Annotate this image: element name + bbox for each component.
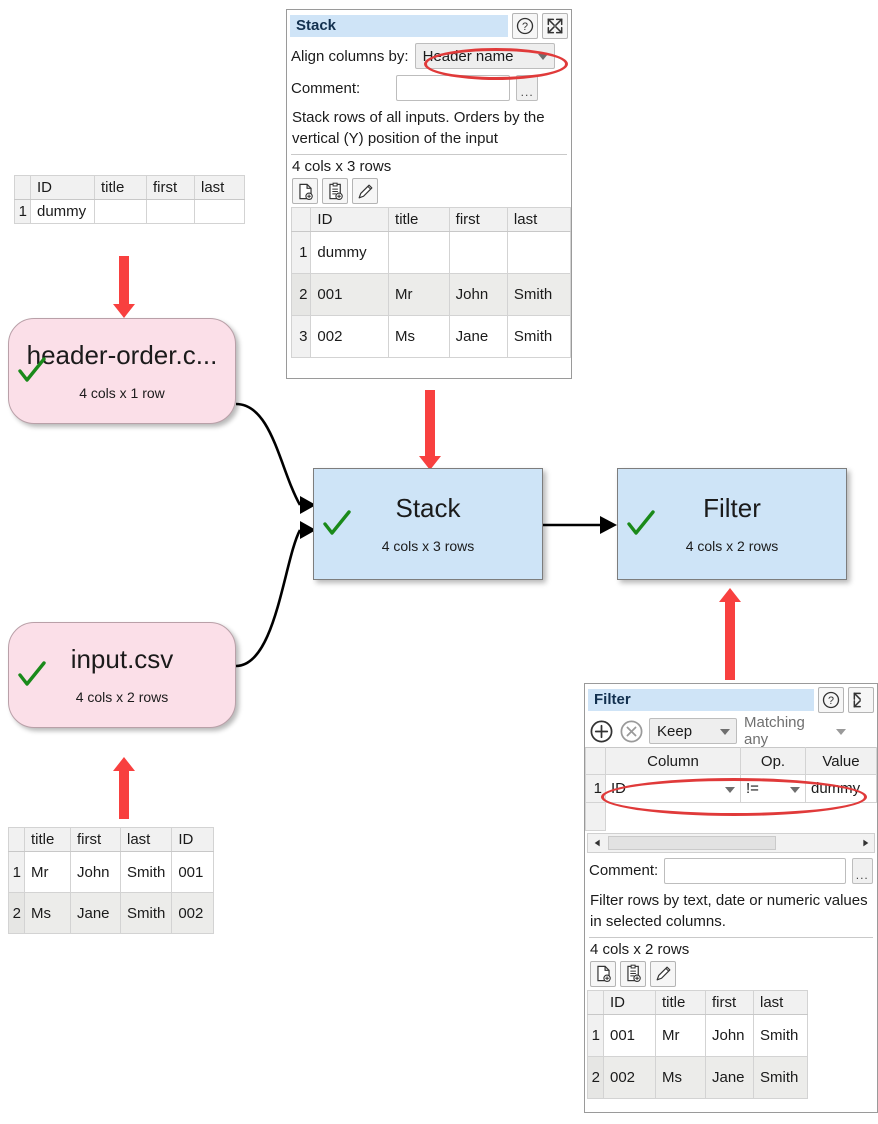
table-cell[interactable]: 001: [172, 852, 214, 893]
grid-corner: [588, 990, 604, 1014]
table-cell[interactable]: [389, 232, 450, 274]
table-row[interactable]: 1 Mr John Smith 001: [9, 852, 214, 893]
scroll-track[interactable]: [607, 834, 855, 852]
node-title: Filter: [703, 493, 761, 523]
row-number: 1: [9, 852, 25, 893]
comment-more-button[interactable]: ...: [852, 858, 873, 884]
column-header[interactable]: first: [449, 208, 507, 232]
arrow-stack-panel-to-node: [419, 390, 441, 470]
chevron-down-icon: [790, 787, 800, 793]
arrow-inputcsv-preview-to-node: [113, 757, 135, 819]
row-number: 1: [15, 200, 31, 224]
status-ok-tick-icon: [322, 509, 352, 539]
column-header[interactable]: Column: [606, 748, 741, 775]
scroll-left-arrow-icon[interactable]: [588, 834, 607, 852]
table-cell[interactable]: Jane: [449, 316, 507, 358]
table-row[interactable]: 1 001 Mr John Smith: [588, 1014, 808, 1056]
criteria-column-value: ID: [611, 780, 626, 797]
table-cell[interactable]: 002: [311, 316, 389, 358]
table-cell: [741, 803, 806, 831]
data-grid[interactable]: ID title first last 1 dummy: [14, 175, 245, 224]
collapse-arrows-icon[interactable]: [848, 687, 874, 713]
comment-row: Comment: ...: [585, 853, 877, 886]
table-cell[interactable]: Mr: [656, 1014, 706, 1056]
grid-corner: [586, 748, 606, 775]
expand-arrows-icon[interactable]: [542, 13, 568, 39]
align-columns-value: Header name: [423, 48, 514, 65]
column-header[interactable]: ID: [31, 176, 95, 200]
filter-criteria-toolbar: Keep Matching any: [585, 715, 877, 747]
table-cell[interactable]: [449, 232, 507, 274]
criteria-op-cell[interactable]: !=: [741, 775, 806, 803]
table-header-row: ID title first last: [15, 176, 245, 200]
header-order-preview-table[interactable]: ID title first last 1 dummy: [14, 175, 245, 224]
table-header-row: ID title first last: [588, 990, 808, 1014]
table-header-row: Column Op. Value: [586, 748, 877, 775]
filter-description: Filter rows by text, date or numeric val…: [585, 886, 877, 934]
column-header[interactable]: last: [195, 176, 245, 200]
question-mark-icon[interactable]: ?: [512, 13, 538, 39]
column-header[interactable]: title: [25, 828, 71, 852]
panel-title: Stack: [290, 15, 508, 37]
data-grid[interactable]: title first last ID 1 Mr John Smith 001 …: [8, 827, 214, 934]
column-header[interactable]: Value: [806, 748, 877, 775]
table-row[interactable]: 2 Ms Jane Smith 002: [9, 893, 214, 934]
comment-input[interactable]: [396, 75, 510, 101]
table-cell: [606, 803, 741, 831]
table-cell[interactable]: Jane: [706, 1056, 754, 1098]
stack-description: Stack rows of all inputs. Orders by the …: [287, 103, 571, 151]
filter-result-table-wrap[interactable]: ID title first last 1 001 Mr John Smith …: [585, 990, 877, 1099]
column-header[interactable]: ID: [604, 990, 656, 1014]
table-cell[interactable]: John: [449, 274, 507, 316]
table-row[interactable]: 2 001 Mr John Smith: [292, 274, 571, 316]
edit-pencil-icon[interactable]: [650, 961, 676, 987]
comment-more-button[interactable]: ...: [516, 75, 538, 101]
panel-header: Filter ?: [585, 684, 877, 715]
row-number: [586, 803, 606, 831]
table-cell[interactable]: Ms: [656, 1056, 706, 1098]
column-header[interactable]: ID: [172, 828, 214, 852]
stack-properties-panel[interactable]: Stack ? Align columns by: Header name: [286, 9, 572, 379]
plus-circle-icon[interactable]: [589, 719, 614, 744]
table-cell[interactable]: [95, 200, 147, 224]
table-header-row: title first last ID: [9, 828, 214, 852]
panel-title: Filter: [588, 689, 814, 711]
filter-mode-value: Keep: [657, 723, 692, 740]
chevron-down-icon: [538, 54, 548, 60]
table-cell[interactable]: John: [706, 1014, 754, 1056]
status-ok-tick-icon: [17, 356, 47, 386]
column-header[interactable]: title: [656, 990, 706, 1014]
criteria-column-cell[interactable]: ID: [606, 775, 741, 803]
node-header-order[interactable]: header-order.c... 4 cols x 1 row: [8, 318, 236, 424]
table-cell[interactable]: Jane: [71, 893, 121, 934]
column-header[interactable]: last: [121, 828, 172, 852]
table-cell[interactable]: Smith: [754, 1014, 808, 1056]
table-cell[interactable]: 002: [172, 893, 214, 934]
table-cell[interactable]: 001: [604, 1014, 656, 1056]
divider: [589, 937, 873, 938]
table-cell[interactable]: 002: [604, 1056, 656, 1098]
table-cell[interactable]: [147, 200, 195, 224]
node-title: input.csv: [71, 644, 174, 674]
row-number: 2: [292, 274, 311, 316]
copy-to-clipboard-icon[interactable]: [620, 961, 646, 987]
criteria-column-dropdown[interactable]: ID: [606, 775, 740, 802]
grid-corner: [292, 208, 311, 232]
filter-match-dropdown[interactable]: Matching any: [742, 718, 852, 744]
criteria-value-input[interactable]: dummy: [806, 775, 876, 802]
table-row[interactable]: 3 002 Ms Jane Smith: [292, 316, 571, 358]
node-dimensions: 4 cols x 3 rows: [382, 537, 475, 555]
svg-text:?: ?: [522, 21, 528, 33]
copy-to-clipboard-icon[interactable]: [322, 178, 348, 204]
comment-row: Comment: ...: [287, 71, 571, 103]
node-input-csv[interactable]: input.csv 4 cols x 2 rows: [8, 622, 236, 728]
table-cell[interactable]: 001: [311, 274, 389, 316]
criteria-op-value: !=: [746, 780, 759, 797]
link-headerorder-to-stack: [236, 404, 300, 505]
chevron-down-icon: [725, 787, 735, 793]
comment-label: Comment:: [589, 862, 658, 879]
row-number: 1: [586, 775, 606, 803]
column-header[interactable]: Op.: [741, 748, 806, 775]
column-header[interactable]: title: [95, 176, 147, 200]
grid-corner: [15, 176, 31, 200]
divider: [291, 154, 567, 155]
comment-input[interactable]: [664, 858, 845, 884]
data-grid[interactable]: ID title first last 1 001 Mr John Smith …: [587, 990, 808, 1099]
table-row[interactable]: 2 002 Ms Jane Smith: [588, 1056, 808, 1098]
filter-mode-dropdown[interactable]: Keep: [649, 718, 737, 744]
column-header[interactable]: first: [706, 990, 754, 1014]
table-row-empty: [586, 803, 877, 831]
new-file-icon[interactable]: [590, 961, 616, 987]
align-columns-dropdown[interactable]: Header name: [415, 43, 555, 69]
stack-toolbar: [287, 177, 571, 207]
column-header[interactable]: first: [71, 828, 121, 852]
row-number: 2: [588, 1056, 604, 1098]
table-header-row: ID title first last: [292, 208, 571, 232]
table-cell[interactable]: Mr: [25, 852, 71, 893]
table-cell[interactable]: dummy: [31, 200, 95, 224]
data-grid[interactable]: ID title first last 1 dummy 2 001 Mr: [291, 207, 571, 358]
table-row[interactable]: 1 ID != dummy: [586, 775, 877, 803]
table-cell: [806, 803, 877, 831]
filter-match-value: Matching any: [744, 714, 830, 748]
filter-output-dimensions: 4 cols x 2 rows: [585, 940, 877, 960]
table-cell[interactable]: Mr: [389, 274, 450, 316]
table-row[interactable]: 1 dummy: [292, 232, 571, 274]
status-ok-tick-icon: [17, 660, 47, 690]
table-cell[interactable]: Smith: [121, 852, 172, 893]
table-row[interactable]: 1 dummy: [15, 200, 245, 224]
question-mark-icon[interactable]: ?: [818, 687, 844, 713]
row-number: 1: [292, 232, 311, 274]
table-cell[interactable]: [507, 232, 570, 274]
scroll-right-arrow-icon[interactable]: [855, 834, 874, 852]
column-header[interactable]: title: [389, 208, 450, 232]
criteria-value-cell[interactable]: dummy: [806, 775, 877, 803]
chevron-down-icon: [836, 729, 846, 735]
table-cell[interactable]: dummy: [311, 232, 389, 274]
row-number: 1: [588, 1014, 604, 1056]
cross-circle-icon[interactable]: [619, 719, 644, 744]
node-filter[interactable]: Filter 4 cols x 2 rows: [617, 468, 847, 580]
node-title: Stack: [395, 493, 460, 523]
row-number: 2: [9, 893, 25, 934]
row-number: 3: [292, 316, 311, 358]
filter-properties-panel[interactable]: Filter ? Keep: [584, 683, 878, 1113]
table-cell[interactable]: Smith: [507, 316, 570, 358]
filter-toolbar: [585, 960, 877, 990]
stack-output-dimensions: 4 cols x 3 rows: [287, 157, 571, 177]
scroll-thumb[interactable]: [608, 836, 776, 850]
align-columns-row: Align columns by: Header name: [287, 41, 571, 71]
filter-criteria-grid[interactable]: Column Op. Value 1 ID !=: [585, 747, 877, 831]
node-stack[interactable]: Stack 4 cols x 3 rows: [313, 468, 543, 580]
arrow-filter-panel-to-node: [719, 588, 741, 680]
link-arrowhead: [600, 516, 617, 534]
table-cell[interactable]: Ms: [389, 316, 450, 358]
node-dimensions: 4 cols x 2 rows: [76, 688, 169, 706]
arrow-headerorder-preview-to-node: [113, 256, 135, 318]
column-header[interactable]: first: [147, 176, 195, 200]
table-cell[interactable]: John: [71, 852, 121, 893]
table-cell[interactable]: Smith: [754, 1056, 808, 1098]
comment-label: Comment:: [291, 80, 360, 97]
column-header[interactable]: ID: [311, 208, 389, 232]
criteria-op-dropdown[interactable]: !=: [741, 775, 805, 802]
link-inputcsv-to-stack: [236, 530, 300, 666]
column-header[interactable]: last: [507, 208, 570, 232]
node-title: header-order.c...: [27, 340, 218, 370]
panel-header: Stack ?: [287, 10, 571, 41]
status-ok-tick-icon: [626, 509, 656, 539]
svg-text:?: ?: [828, 695, 834, 707]
new-file-icon[interactable]: [292, 178, 318, 204]
table-cell[interactable]: Ms: [25, 893, 71, 934]
table-cell[interactable]: Smith: [121, 893, 172, 934]
table-cell[interactable]: [195, 200, 245, 224]
chevron-down-icon: [720, 729, 730, 735]
stack-result-table-wrap[interactable]: ID title first last 1 dummy 2 001 Mr: [287, 207, 571, 358]
table-cell[interactable]: Smith: [507, 274, 570, 316]
align-columns-label: Align columns by:: [291, 48, 409, 65]
node-dimensions: 4 cols x 1 row: [79, 384, 165, 402]
criteria-horizontal-scrollbar[interactable]: [587, 833, 875, 853]
grid-corner: [9, 828, 25, 852]
column-header[interactable]: last: [754, 990, 808, 1014]
node-dimensions: 4 cols x 2 rows: [686, 537, 779, 555]
input-csv-preview-table[interactable]: title first last ID 1 Mr John Smith 001 …: [8, 827, 214, 934]
edit-pencil-icon[interactable]: [352, 178, 378, 204]
